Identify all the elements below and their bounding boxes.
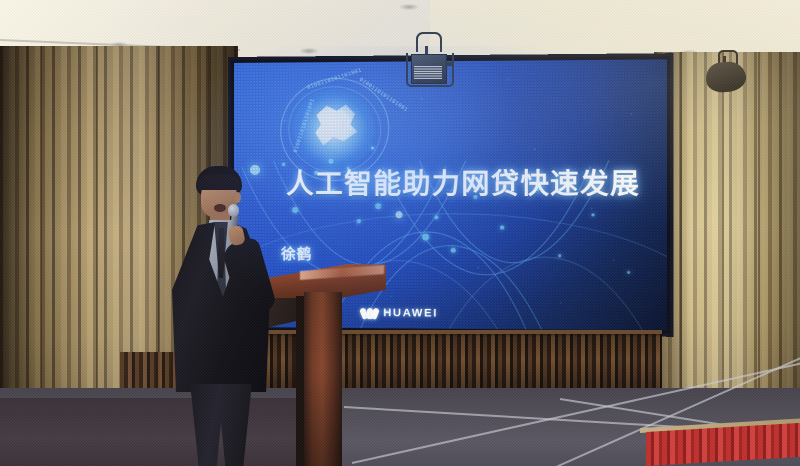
stage-light-icon	[404, 42, 452, 88]
slide-presenter-name: 徐鹤	[281, 243, 312, 264]
huawei-logo: HUAWEI	[361, 307, 438, 320]
presentation-photo: 0100110101101001 0100110101101001 010011…	[0, 0, 800, 466]
presenter-mouth	[214, 204, 226, 212]
downlight-icon	[400, 4, 418, 10]
presenter-legs	[186, 384, 256, 466]
downlight-icon	[300, 48, 318, 54]
huawei-flower-icon	[361, 307, 378, 318]
presenter-ear	[234, 192, 241, 203]
presenter-hair-front	[197, 174, 241, 190]
microphone-icon	[228, 204, 239, 217]
podium-column	[304, 292, 342, 466]
huawei-wordmark: HUAWEI	[383, 307, 438, 320]
slide-title: 人工智能助力网贷快速发展	[286, 160, 656, 201]
presenter	[168, 166, 276, 466]
